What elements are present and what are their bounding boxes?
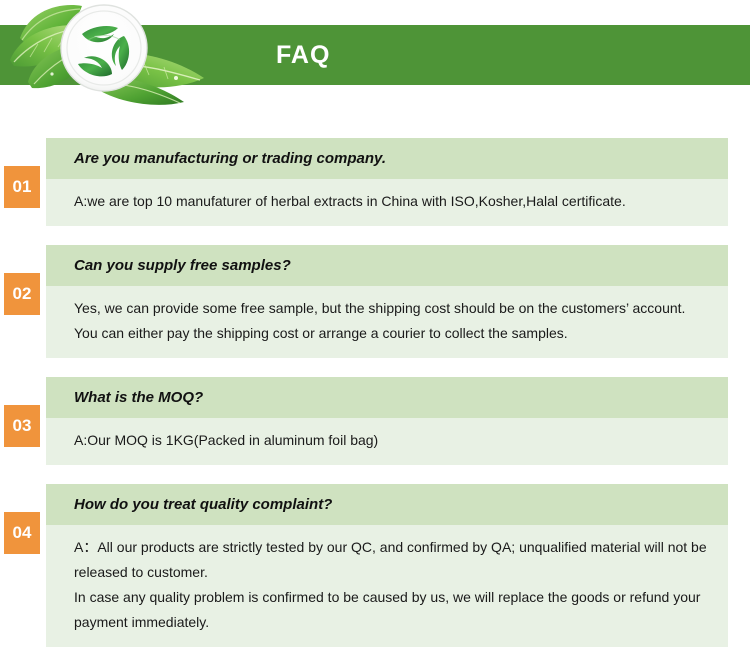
faq-list: 01 Are you manufacturing or trading comp… [0, 138, 750, 647]
faq-answer: A：All our products are strictly tested b… [46, 525, 728, 647]
page-header: FAQ [0, 0, 750, 110]
faq-body: What is the MOQ? A:Our MOQ is 1KG(Packed… [46, 377, 728, 465]
faq-number-badge: 04 [4, 512, 40, 554]
faq-item: 03 What is the MOQ? A:Our MOQ is 1KG(Pac… [0, 377, 750, 465]
faq-item: 01 Are you manufacturing or trading comp… [0, 138, 750, 226]
faq-item: 04 How do you treat quality complaint? A… [0, 484, 750, 647]
faq-question[interactable]: Are you manufacturing or trading company… [46, 138, 728, 179]
faq-number-badge: 01 [4, 166, 40, 208]
leaf-recycle-emblem-icon [8, 0, 218, 110]
faq-body: Can you supply free samples? Yes, we can… [46, 245, 728, 358]
faq-question[interactable]: Can you supply free samples? [46, 245, 728, 286]
faq-question[interactable]: How do you treat quality complaint? [46, 484, 728, 525]
faq-item: 02 Can you supply free samples? Yes, we … [0, 245, 750, 358]
faq-body: How do you treat quality complaint? A：Al… [46, 484, 728, 647]
company-logo [8, 0, 218, 110]
faq-answer: A:we are top 10 manufaturer of herbal ex… [46, 179, 728, 226]
faq-answer: Yes, we can provide some free sample, bu… [46, 286, 728, 358]
faq-number-badge: 03 [4, 405, 40, 447]
faq-body: Are you manufacturing or trading company… [46, 138, 728, 226]
faq-number-badge: 02 [4, 273, 40, 315]
faq-question[interactable]: What is the MOQ? [46, 377, 728, 418]
faq-answer: A:Our MOQ is 1KG(Packed in aluminum foil… [46, 418, 728, 465]
page-title: FAQ [276, 39, 330, 71]
